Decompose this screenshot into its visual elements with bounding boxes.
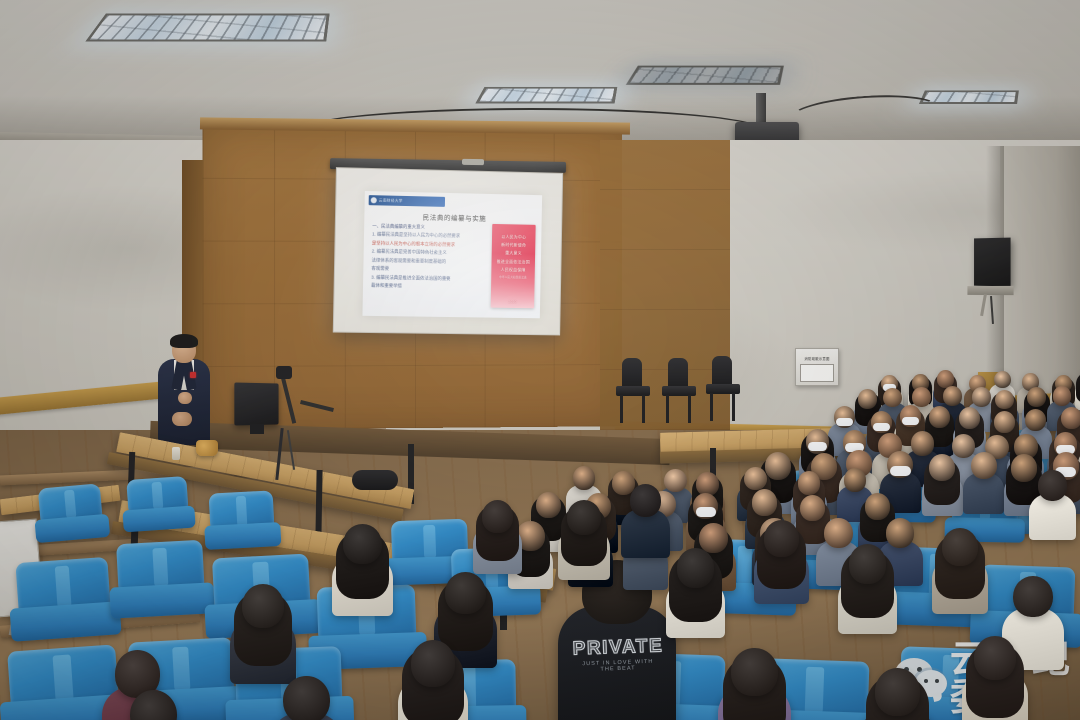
audience-member: [664, 548, 727, 634]
face-mask: [808, 442, 827, 451]
ceiling-light-panel-left: [85, 13, 329, 41]
audience-member: [228, 584, 298, 680]
seat-chair: [209, 490, 276, 549]
chair-back: [712, 356, 732, 386]
audience-member: [836, 544, 899, 630]
desk-leg: [315, 470, 322, 538]
audience-head: [929, 406, 950, 428]
audience-head: [343, 524, 382, 564]
slide-bullet: 是坚持以人民为中心的根本立场的必然要求: [372, 241, 473, 248]
podium-small-item: [172, 447, 180, 460]
poster-line: 人民权益保障: [501, 267, 526, 273]
chair-back-notch: [152, 482, 163, 510]
chair-leg: [732, 393, 735, 421]
audience-member: [556, 500, 612, 577]
chair-back-notch: [737, 546, 752, 585]
audience-member: [921, 454, 964, 514]
audience-member: [860, 668, 936, 720]
audience-head: [937, 370, 954, 388]
wall-sign-label: 消防疏散示意图: [796, 356, 838, 361]
audience-head: [994, 411, 1015, 433]
audience-head: [1053, 386, 1072, 406]
audience-head: [798, 471, 821, 495]
wall-sign-diagram: [800, 364, 834, 382]
chair-back-notch: [942, 654, 960, 698]
audience-head: [865, 493, 890, 519]
slide-poster-image: 以人民为中心 新时代新使命 重大意义 推进全面依法治国 人民权益保障 中华人民共…: [491, 224, 536, 308]
chair-leg: [666, 395, 669, 423]
ceiling-light-panel-mid: [475, 87, 617, 104]
ceiling-light-panel-center-dim: [626, 66, 784, 85]
evacuation-map-sign: 消防疏散示意图: [795, 348, 839, 386]
chair-leg: [642, 395, 645, 423]
audience-head: [482, 500, 513, 533]
projection-screen: 云南财经大学 民法典的编纂与实施 一、民法典编纂的重大意义 1. 编纂民法典是坚…: [333, 167, 563, 335]
audience-head: [411, 640, 456, 687]
audience-head: [677, 548, 715, 588]
audience-head: [130, 690, 177, 720]
poster-stamp: 2020: [508, 300, 516, 304]
slide-brand-emblem-icon: [371, 197, 377, 203]
chair-seat: [110, 582, 215, 618]
monitor-stand: [250, 424, 264, 434]
chair-back: [622, 358, 642, 388]
slide-header-brand-bar: 云南财经大学: [369, 195, 445, 207]
chair-back-notch: [152, 548, 168, 587]
audience-head: [1061, 407, 1080, 429]
seat-chair: [126, 476, 189, 532]
chair-back-notch: [236, 496, 248, 526]
audience-head: [971, 452, 997, 479]
audience-head: [844, 468, 867, 492]
slide-bullet: 2. 编纂民法典是完善中国特色社会主义: [372, 249, 473, 256]
wall-speaker-bracket: [967, 286, 1013, 295]
chair-back: [668, 358, 688, 388]
audience-member: [114, 690, 192, 720]
audience-member: [620, 484, 672, 555]
chair-leg: [688, 395, 691, 423]
audience-member: [330, 524, 394, 612]
slide-title: 民法典的编纂与实施: [423, 211, 487, 222]
audience-head: [445, 572, 485, 614]
audience-head: [875, 668, 920, 716]
poster-line: 重大意义: [505, 250, 522, 256]
slide-bullet: 客观需要: [371, 266, 472, 273]
floor-bag: [352, 470, 398, 490]
audience-head: [1025, 409, 1046, 431]
audience-head: [731, 648, 777, 696]
audience-head: [849, 544, 887, 584]
audience-head: [943, 386, 962, 406]
audience-head: [283, 676, 329, 720]
audience-head: [1013, 576, 1052, 617]
audience-head: [573, 466, 596, 490]
face-mask: [902, 417, 919, 425]
audience-head: [764, 520, 799, 557]
presentation-slide: 云南财经大学 民法典的编纂与实施 一、民法典编纂的重大意义 1. 编纂民法典是坚…: [362, 191, 542, 318]
lecture-hall-photo: 云南财经大学 民法典的编纂与实施 一、民法典编纂的重大意义 1. 编纂民法典是坚…: [0, 0, 1080, 720]
poster-line: 新时代新使命: [501, 242, 526, 248]
seat-chair: [15, 557, 112, 641]
face-mask: [696, 507, 716, 517]
face-mask: [836, 418, 853, 426]
slide-bullet: 法律体系的客观需要和重要制度基础的: [372, 258, 473, 265]
audience-head: [744, 467, 767, 491]
audience-member: [268, 676, 345, 720]
poster-fine-print: 中华人民共和国民法典: [499, 275, 527, 279]
audience-head: [242, 584, 284, 628]
face-mask: [873, 423, 890, 431]
audience-head: [630, 484, 661, 517]
presenter-lapel-badge: [190, 372, 196, 378]
poster-line: 以人民为中心: [501, 234, 526, 240]
projection-screen-knob: [462, 159, 484, 165]
audience-member: [752, 520, 811, 601]
poster-line: 推进全面依法治国: [497, 258, 530, 265]
audience-head: [974, 636, 1016, 680]
chair-back-notch: [805, 667, 824, 713]
audience-member: [962, 452, 1005, 512]
chair-back-notch: [423, 525, 436, 559]
audience-member: [1028, 470, 1077, 537]
chair-leg: [620, 395, 623, 423]
audience-head: [959, 407, 980, 429]
teacup: [196, 440, 218, 456]
presenter: [152, 336, 216, 454]
face-mask: [890, 466, 911, 476]
wall-speaker: [974, 238, 1011, 287]
slide-brand-text: 云南财经大学: [379, 198, 403, 204]
audience-member: [472, 500, 524, 571]
audience-member: [960, 636, 1030, 720]
audience-member: [716, 648, 793, 720]
slide-bullet: 3. 编纂民法典是推进全面依法治国的重要: [371, 275, 472, 282]
audience-head: [929, 454, 955, 481]
slide-bullet: 载体和重要举措: [371, 283, 472, 290]
microphone-head-icon: [276, 366, 292, 379]
hoodie-print-text: PRIVATE: [572, 635, 663, 660]
seat-chair: [116, 540, 206, 618]
audience-head: [1027, 387, 1046, 407]
slide-bullet-list: 一、民法典编纂的重大意义 1. 编纂民法典是坚持以人民为中心的必然要求 是坚持以…: [371, 223, 478, 290]
audience-head: [995, 390, 1014, 410]
presenter-hand-upper: [178, 392, 192, 404]
audience-member: [930, 528, 990, 611]
presenter-hair: [170, 334, 198, 348]
audience-head: [752, 489, 777, 515]
audience-head: [994, 371, 1011, 389]
audience-head: [1038, 470, 1067, 501]
seat-chair: [38, 483, 104, 542]
audience-head: [567, 500, 601, 535]
podium-monitor: [234, 382, 278, 425]
slide-bullet: 1. 编纂民法典是坚持以人民为中心的必然要求: [372, 232, 473, 239]
slide-bullet: 一、民法典编纂的重大意义: [372, 223, 473, 230]
audience-head: [942, 528, 978, 566]
audience-member: [396, 640, 470, 720]
projector-mount: [756, 93, 766, 125]
chair-leg: [710, 393, 713, 421]
chair-seat: [204, 522, 282, 550]
presenter-hand-lower: [172, 412, 192, 426]
chair-back-notch: [53, 654, 73, 700]
audience-head: [696, 472, 719, 496]
